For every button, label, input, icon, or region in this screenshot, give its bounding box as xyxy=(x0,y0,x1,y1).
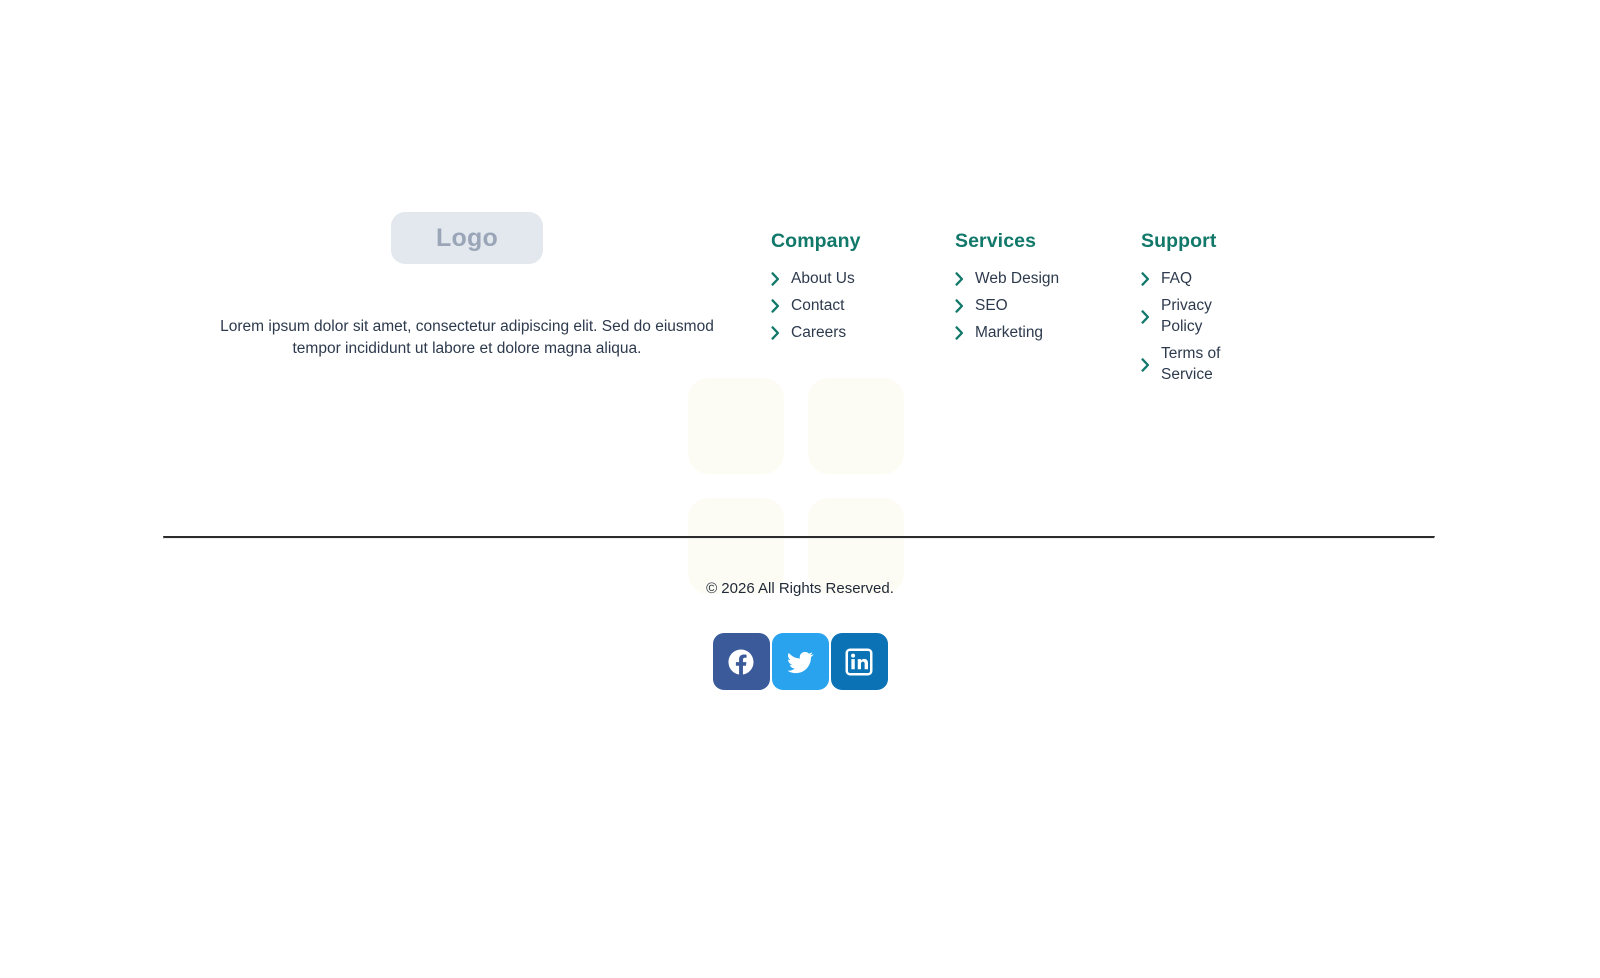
footer-link-web-design[interactable]: Web Design xyxy=(955,269,1141,290)
brand-column: Logo Lorem ipsum dolor sit amet, consect… xyxy=(163,212,771,376)
link-list-services: Web Design SEO Marketing xyxy=(955,269,1141,344)
footer-link-privacy-policy[interactable]: Privacy Policy xyxy=(1141,296,1251,338)
chevron-right-icon xyxy=(955,326,964,340)
footer-link-label: FAQ xyxy=(1161,269,1192,290)
social-link-twitter[interactable] xyxy=(772,633,829,690)
social-link-linkedin[interactable] xyxy=(831,633,888,690)
footer-column-services: Services Web Design SEO xyxy=(955,212,1141,350)
footer-link-about-us[interactable]: About Us xyxy=(771,269,955,290)
logo-placeholder[interactable]: Logo xyxy=(391,212,543,264)
social-links-row xyxy=(0,633,1600,690)
column-title-company: Company xyxy=(771,230,955,253)
chevron-right-icon xyxy=(1141,272,1150,286)
chevron-right-icon xyxy=(1141,310,1150,324)
footer-link-label: Web Design xyxy=(975,269,1059,290)
footer-link-label: Privacy Policy xyxy=(1161,296,1251,338)
chevron-right-icon xyxy=(771,299,780,313)
brand-description: Lorem ipsum dolor sit amet, consectetur … xyxy=(203,316,731,361)
footer-link-label: About Us xyxy=(791,269,855,290)
column-title-services: Services xyxy=(955,230,1141,253)
footer-link-label: Careers xyxy=(791,323,846,344)
chevron-right-icon xyxy=(1141,358,1150,372)
site-footer: Logo Lorem ipsum dolor sit amet, consect… xyxy=(0,0,1600,978)
link-list-support: FAQ Privacy Policy Terms of Service xyxy=(1141,269,1251,386)
copyright-text: © 2026 All Rights Reserved. xyxy=(0,580,1600,597)
chevron-right-icon xyxy=(955,272,964,286)
twitter-icon xyxy=(785,647,815,677)
column-title-support: Support xyxy=(1141,230,1251,253)
chevron-right-icon xyxy=(771,272,780,286)
footer-link-label: Marketing xyxy=(975,323,1043,344)
footer-column-support: Support FAQ Privacy Policy xyxy=(1141,212,1251,392)
footer-link-seo[interactable]: SEO xyxy=(955,296,1141,317)
footer-link-marketing[interactable]: Marketing xyxy=(955,323,1141,344)
footer-link-label: SEO xyxy=(975,296,1008,317)
linkedin-icon xyxy=(844,647,874,677)
link-list-company: About Us Contact Careers xyxy=(771,269,955,344)
social-link-facebook[interactable] xyxy=(713,633,770,690)
footer-link-faq[interactable]: FAQ xyxy=(1141,269,1251,290)
footer-link-contact[interactable]: Contact xyxy=(771,296,955,317)
facebook-icon xyxy=(726,647,756,677)
footer-link-careers[interactable]: Careers xyxy=(771,323,955,344)
logo-label: Logo xyxy=(436,224,498,253)
footer-columns: Logo Lorem ipsum dolor sit amet, consect… xyxy=(163,212,1435,392)
footer-divider xyxy=(163,536,1435,539)
footer-link-label: Contact xyxy=(791,296,844,317)
chevron-right-icon xyxy=(771,326,780,340)
footer-link-terms-of-service[interactable]: Terms of Service xyxy=(1141,344,1251,386)
footer-column-company: Company About Us Contact xyxy=(771,212,955,350)
chevron-right-icon xyxy=(955,299,964,313)
footer-link-label: Terms of Service xyxy=(1161,344,1251,386)
